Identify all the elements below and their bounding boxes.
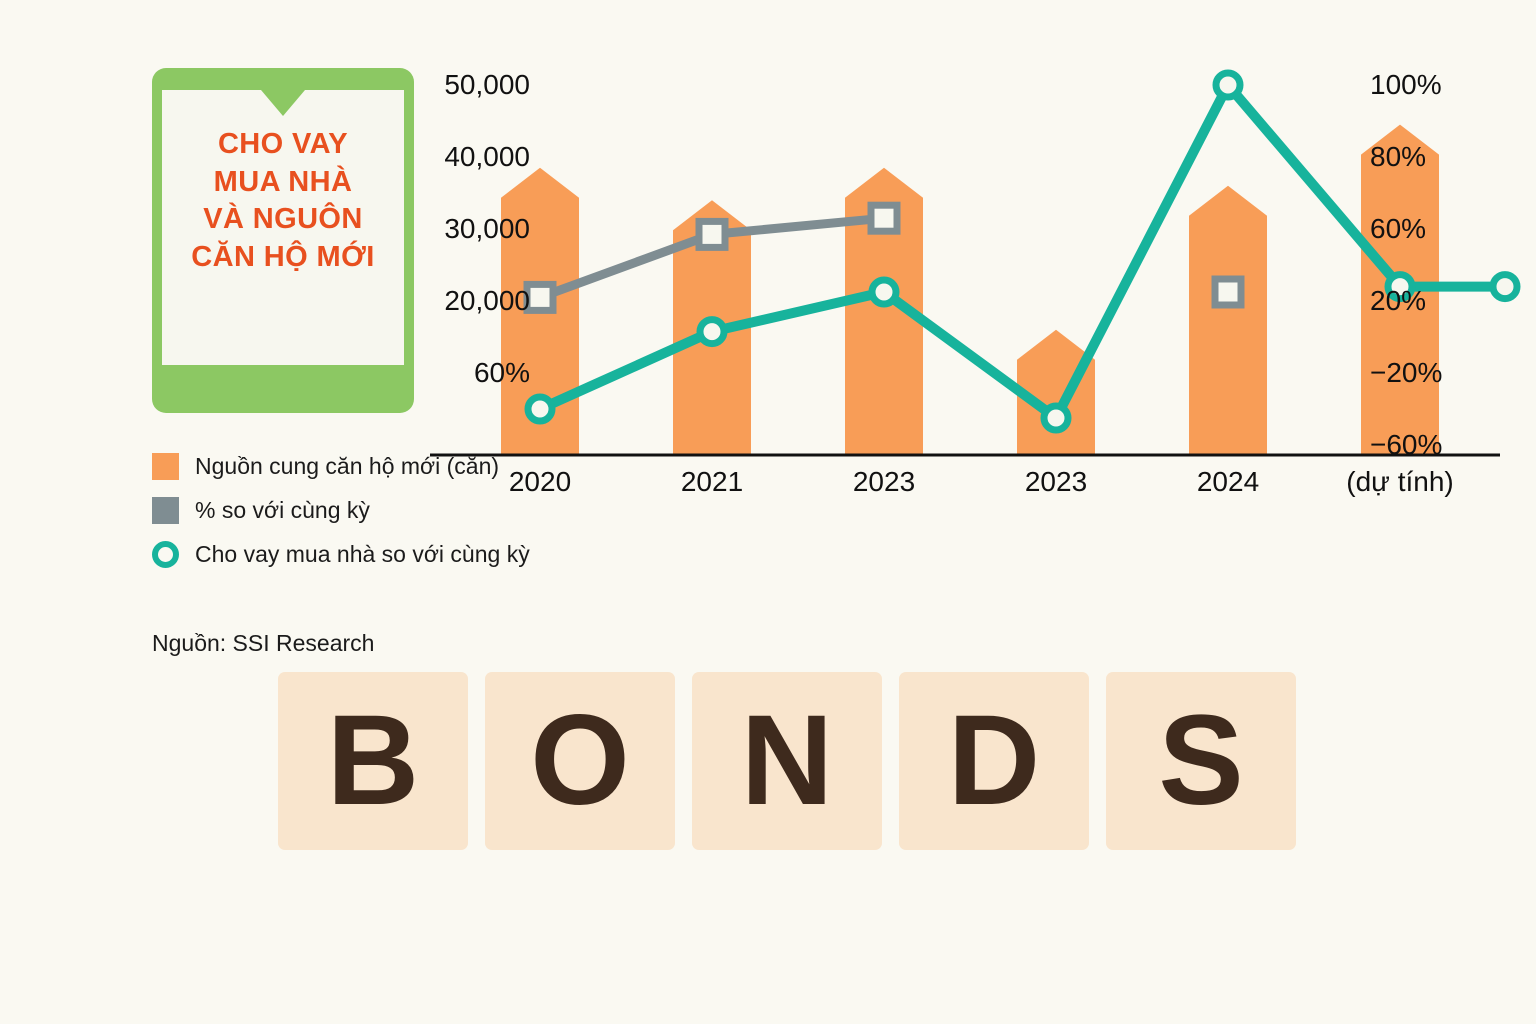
x-axis-tick: 2021 bbox=[681, 466, 743, 498]
legend-label-mortgage-yoy: Cho vay mua nhà so với cùng kỳ bbox=[195, 541, 530, 568]
teal-circle-marker bbox=[872, 280, 896, 304]
title-card-text: CHO VAY MUA NHÀ VÀ NGUÔN CĂN HỘ MỚI bbox=[152, 126, 414, 277]
left-axis-tick: 60% bbox=[474, 357, 530, 389]
legend-label-yoy-percent: % so với cùng kỳ bbox=[195, 497, 370, 524]
bonds-tile: S bbox=[1106, 672, 1296, 850]
gray-square-marker bbox=[1215, 279, 1241, 305]
x-axis-tick: 2020 bbox=[509, 466, 571, 498]
bonds-tile: B bbox=[278, 672, 468, 850]
x-axis-tick: (dự tính) bbox=[1346, 466, 1453, 498]
teal-circle-marker bbox=[700, 320, 724, 344]
teal-circle-marker bbox=[1044, 406, 1068, 430]
title-line-4: CĂN HỘ MỚI bbox=[152, 239, 414, 277]
title-card-strip bbox=[162, 376, 404, 383]
title-line-2: MUA NHÀ bbox=[152, 164, 414, 202]
bonds-letter: B bbox=[327, 697, 419, 825]
right-axis-tick: 20% bbox=[1370, 285, 1426, 317]
right-axis-tick: 100% bbox=[1370, 69, 1442, 101]
legend-item-mortgage-yoy: Cho vay mua nhà so với cùng kỳ bbox=[152, 532, 622, 576]
bar-2024 bbox=[1189, 186, 1267, 455]
gray-square-icon bbox=[152, 497, 179, 524]
gray-square-marker bbox=[527, 284, 553, 310]
right-axis-tick: 60% bbox=[1370, 213, 1426, 245]
bonds-letter: S bbox=[1158, 697, 1243, 825]
title-notch-icon bbox=[261, 90, 305, 116]
title-line-3: VÀ NGUÔN bbox=[152, 201, 414, 239]
orange-square-icon bbox=[152, 453, 179, 480]
left-axis-tick: 40,000 bbox=[444, 141, 530, 173]
teal-ring-icon bbox=[152, 541, 179, 568]
teal-circle-marker bbox=[1493, 275, 1517, 299]
bonds-tile: N bbox=[692, 672, 882, 850]
title-card: CHO VAY MUA NHÀ VÀ NGUÔN CĂN HỘ MỚI bbox=[152, 68, 414, 413]
teal-circle-marker bbox=[1216, 73, 1240, 97]
bonds-letter: D bbox=[948, 697, 1040, 825]
x-axis-tick: 2023 bbox=[1025, 466, 1087, 498]
bonds-tile: O bbox=[485, 672, 675, 850]
bonds-tile: D bbox=[899, 672, 1089, 850]
bonds-tiles: B O N D S bbox=[278, 672, 1296, 850]
right-axis-tick: −60% bbox=[1370, 429, 1442, 461]
gray-square-marker bbox=[699, 221, 725, 247]
left-axis-tick: 30,000 bbox=[444, 213, 530, 245]
title-line-1: CHO VAY bbox=[152, 126, 414, 164]
bonds-letter: O bbox=[530, 697, 630, 825]
teal-circle-marker bbox=[528, 397, 552, 421]
x-axis-tick: 2024 bbox=[1197, 466, 1259, 498]
right-axis-tick: 80% bbox=[1370, 141, 1426, 173]
chart-area: 50,00040,00030,00020,00060%100%80%60%20%… bbox=[430, 60, 1536, 520]
bonds-letter: N bbox=[741, 697, 833, 825]
gray-square-marker bbox=[871, 205, 897, 231]
left-axis-tick: 50,000 bbox=[444, 69, 530, 101]
right-axis-tick: −20% bbox=[1370, 357, 1442, 389]
x-axis-tick: 2023 bbox=[853, 466, 915, 498]
source-note: Nguồn: SSI Research bbox=[152, 630, 374, 657]
left-axis-tick: 20,000 bbox=[444, 285, 530, 317]
